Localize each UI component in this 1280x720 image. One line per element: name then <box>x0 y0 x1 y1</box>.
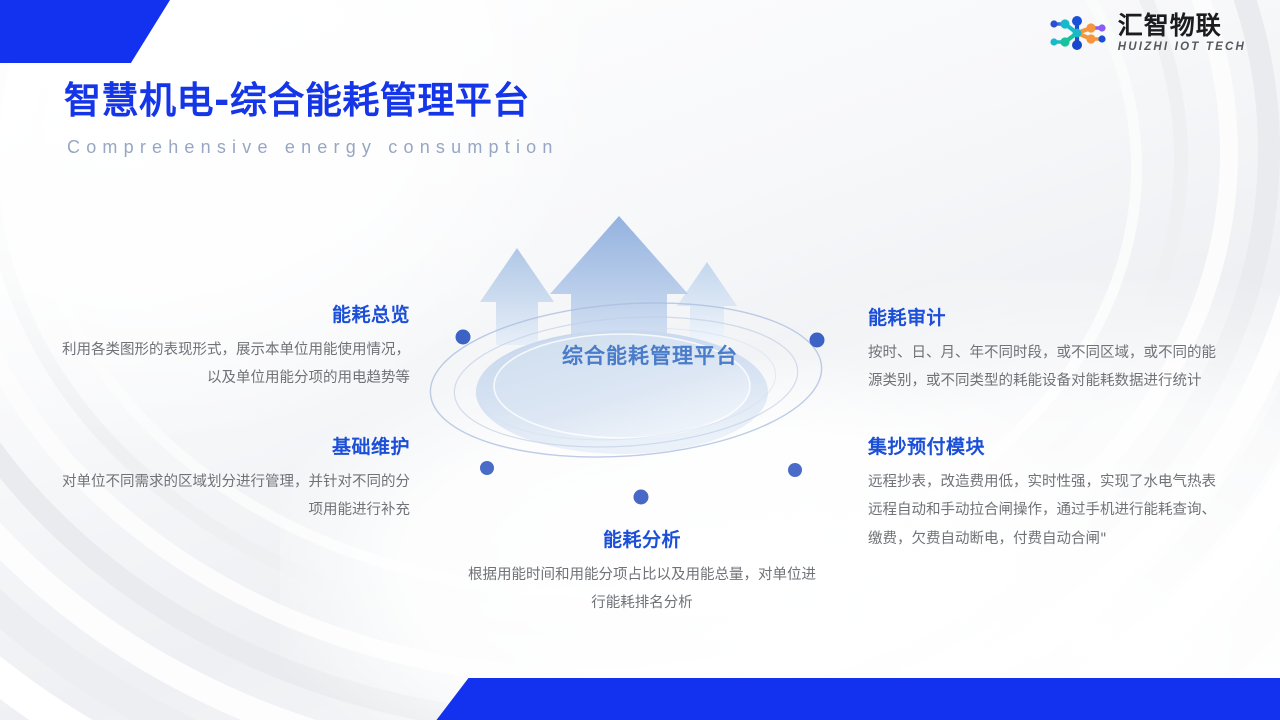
brand-name-en: HUIZHI IOT TECH <box>1118 42 1246 54</box>
module-body: 对单位不同需求的区域划分进行管理，并针对不同的分项用能进行补充 <box>58 468 410 525</box>
module-energy-overview: 能耗总览 利用各类图形的表现形式，展示本单位用能使用情况，以及单位用能分项的用电… <box>58 300 410 393</box>
module-body: 远程抄表，改造费用低，实时性强，实现了水电气热表远程自动和手动拉合闸操作，通过手… <box>868 468 1226 553</box>
slide-canvas: 汇智物联 HUIZHI IOT TECH 智慧机电-综合能耗管理平台 Compr… <box>0 0 1280 720</box>
orbit-node-3 <box>480 461 494 475</box>
corner-accent-bottom-right <box>0 678 1280 720</box>
module-prepaid-meter-reading: 集抄预付模块 远程抄表，改造费用低，实时性强，实现了水电气热表远程自动和手动拉合… <box>868 432 1226 553</box>
module-body: 利用各类图形的表现形式，展示本单位用能使用情况，以及单位用能分项的用电趋势等 <box>58 336 410 393</box>
module-body: 根据用能时间和用能分项占比以及用能总量，对单位进行能耗排名分析 <box>462 561 822 618</box>
central-illustration <box>400 210 900 530</box>
corner-accent-top-left <box>0 0 170 63</box>
module-title: 能耗分析 <box>462 525 822 552</box>
brand-logo-text: 汇智物联 HUIZHI IOT TECH <box>1118 13 1246 54</box>
molecule-network-icon <box>1045 11 1109 55</box>
page-subtitle: Comprehensive energy consumption <box>67 137 559 158</box>
module-title: 基础维护 <box>58 432 410 459</box>
page-title: 智慧机电-综合能耗管理平台 <box>64 70 559 124</box>
brand-name-cn: 汇智物联 <box>1118 13 1246 38</box>
module-basic-maintenance: 基础维护 对单位不同需求的区域划分进行管理，并针对不同的分项用能进行补充 <box>58 432 410 525</box>
module-title: 能耗审计 <box>868 303 1226 330</box>
page-title-group: 智慧机电-综合能耗管理平台 Comprehensive energy consu… <box>64 70 559 158</box>
module-title: 能耗总览 <box>58 300 410 327</box>
module-energy-analysis: 能耗分析 根据用能时间和用能分项占比以及用能总量，对单位进行能耗排名分析 <box>462 525 822 618</box>
growth-arrow-right <box>677 262 737 340</box>
orbit-node-5 <box>634 490 649 505</box>
module-body: 按时、日、月、年不同时段，或不同区域，或不同的能源类别，或不同类型的耗能设备对能… <box>868 339 1226 396</box>
module-energy-audit: 能耗审计 按时、日、月、年不同时段，或不同区域，或不同的能源类别，或不同类型的耗… <box>868 303 1226 396</box>
orbit-node-4 <box>788 463 802 477</box>
module-title: 集抄预付模块 <box>868 432 1226 459</box>
brand-logo: 汇智物联 HUIZHI IOT TECH <box>1045 11 1246 55</box>
platform-center-label: 综合能耗管理平台 <box>400 340 900 370</box>
